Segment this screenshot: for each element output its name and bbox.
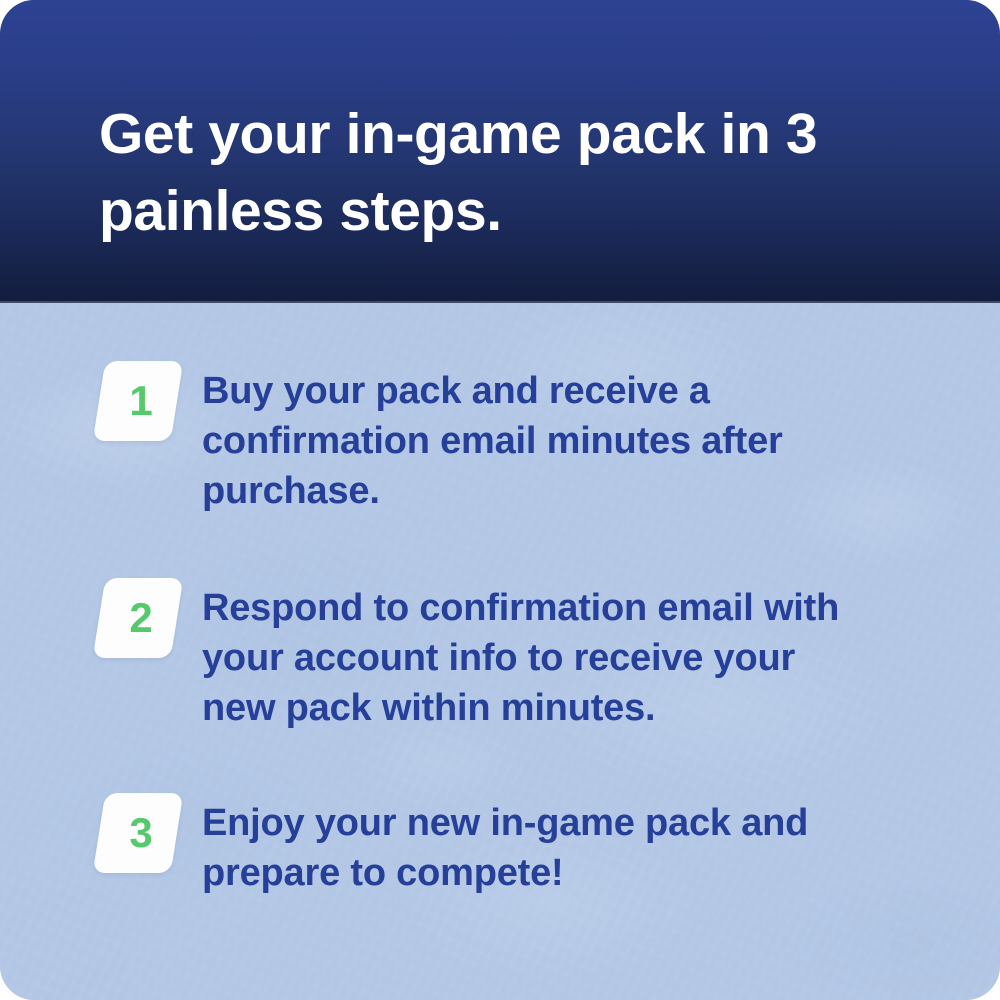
step-number-2: 2 (99, 578, 177, 658)
page-title: Get your in-game pack in 3 painless step… (99, 96, 889, 250)
step-item-3: 3 Enjoy your new in-game pack and prepar… (99, 793, 899, 898)
promo-card: Get your in-game pack in 3 painless step… (0, 0, 1000, 1000)
header-band: Get your in-game pack in 3 painless step… (0, 0, 1000, 303)
step-item-1: 1 Buy your pack and receive a confirmati… (99, 361, 899, 516)
step-number-badge-1: 1 (99, 361, 177, 441)
step-description-3: Enjoy your new in-game pack and prepare … (202, 793, 872, 898)
step-number-badge-3: 3 (99, 793, 177, 873)
step-number-3: 3 (99, 793, 177, 873)
steps-section: 1 Buy your pack and receive a confirmati… (0, 303, 1000, 1000)
step-description-2: Respond to confirmation email with your … (202, 578, 862, 733)
step-number-badge-2: 2 (99, 578, 177, 658)
step-description-1: Buy your pack and receive a confirmation… (202, 361, 862, 516)
step-item-2: 2 Respond to confirmation email with you… (99, 578, 899, 733)
step-number-1: 1 (99, 361, 177, 441)
